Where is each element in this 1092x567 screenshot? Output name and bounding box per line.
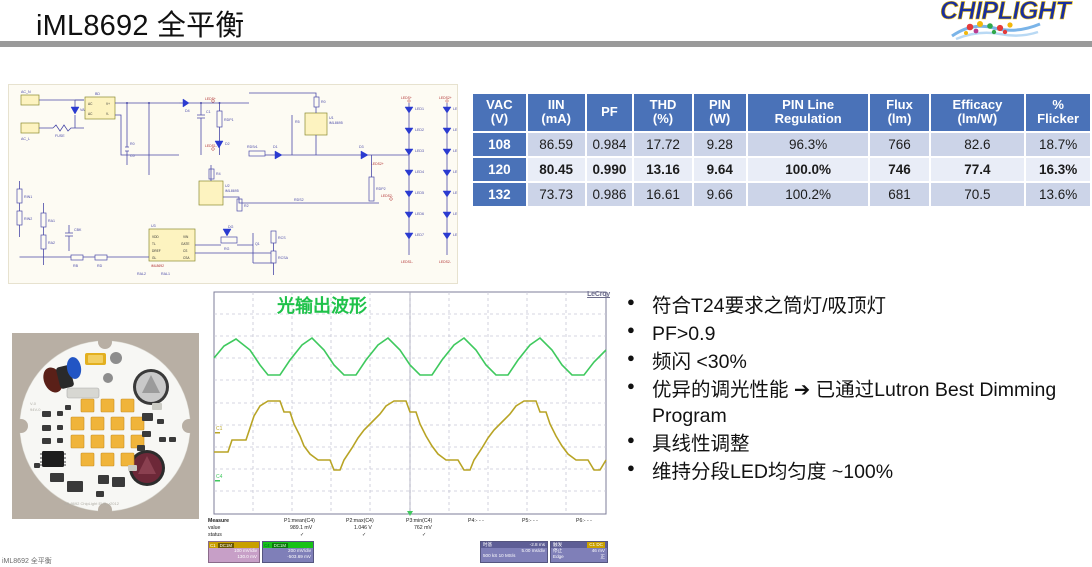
performance-table: VAC (V) IIN (mA) PF THD (%) PIN (W) PIN … — [471, 92, 1092, 208]
svg-text:iML8695: iML8695 — [225, 189, 239, 193]
pcb-photo: V-0 94V-0 iML8692 ChipLight EVB_r2012 — [12, 333, 199, 519]
svg-text:C0: C0 — [130, 154, 135, 158]
slide-root: iML8692 全平衡 CHIPLIGHT .w { stroke:#4a4aa… — [0, 0, 1092, 567]
cell-efficacy: 70.5 — [931, 183, 1025, 206]
svg-text:VDD: VDD — [152, 235, 159, 239]
light-output-waveform-label: 光输出波形 — [277, 292, 367, 318]
svg-text:RIN2: RIN2 — [24, 217, 32, 221]
svg-text:C1: C1 — [216, 426, 223, 432]
cell-pin: 9.66 — [694, 183, 746, 206]
cell-pin-line-regulation: 96.3% — [748, 133, 869, 156]
svg-text:U1: U1 — [329, 116, 334, 120]
svg-text:RD: RD — [97, 264, 103, 268]
cell-iin: 86.59 — [528, 133, 585, 156]
svg-text:CSA: CSA — [183, 256, 190, 260]
svg-text:U3: U3 — [151, 224, 156, 228]
col-pin-line-regulation: PIN Line Regulation — [748, 94, 869, 131]
svg-text:D3: D3 — [359, 145, 364, 149]
schematic-drawing: .w { stroke:#4a4aa8; stroke-width:0.8; f… — [9, 85, 458, 284]
trigger-source: 正 — [600, 554, 605, 560]
svg-text:VIN: VIN — [183, 235, 189, 239]
col-flux: Flux (lm) — [870, 94, 928, 131]
feature-bullet-list: 符合T24要求之筒灯/吸顶灯 PF>0.9 频闪 <30% 优异的调光性能 ➔ … — [622, 294, 1088, 487]
cell-pin-line-regulation: 100.2% — [748, 183, 869, 206]
svg-text:LEDS2-: LEDS2- — [381, 194, 393, 198]
pcb-illustration: V-0 94V-0 iML8692 ChipLight EVB_r2012 — [12, 333, 199, 519]
svg-text:Q1: Q1 — [255, 242, 260, 246]
svg-text:LEDS2-: LEDS2- — [439, 260, 451, 264]
svg-text:RCSA: RCSA — [278, 256, 289, 260]
svg-text:LED5: LED5 — [415, 191, 424, 195]
channel-c4-offset: -503.69 mV — [263, 554, 311, 560]
scope-measurement-panel: Measure value status P1:mean(C4) 989.1 m… — [206, 516, 615, 567]
cell-efficacy: 82.6 — [931, 133, 1025, 156]
cell-pin: 9.64 — [694, 158, 746, 181]
chiplight-logo: CHIPLIGHT — [934, 0, 1092, 43]
svg-text:LED10: LED10 — [453, 149, 458, 153]
svg-text:LED9: LED9 — [453, 128, 458, 132]
svg-text:V-: V- — [106, 112, 109, 116]
svg-text:CS: CS — [183, 249, 187, 253]
table-row: 108 86.59 0.984 17.72 9.28 96.3% 766 82.… — [473, 133, 1090, 156]
list-item: 具线性调整 — [622, 432, 1088, 458]
svg-text:LED1: LED1 — [415, 107, 424, 111]
list-item: 符合T24要求之筒灯/吸顶灯 — [622, 294, 1088, 320]
svg-text:C4: C4 — [216, 474, 223, 480]
list-item: PF>0.9 — [622, 322, 1088, 348]
status-label: status — [208, 532, 222, 538]
col-pin: PIN (W) — [694, 94, 746, 131]
svg-text:RA1: RA1 — [48, 219, 55, 223]
cell-iin: 80.45 — [528, 158, 585, 181]
svg-text:RB: RB — [73, 264, 79, 268]
p1-status-check: ✓ — [300, 532, 304, 538]
cell-pf: 0.984 — [587, 133, 633, 156]
svg-text:RDS2: RDS2 — [294, 198, 304, 202]
p2-status-check: ✓ — [362, 532, 366, 538]
p2-value: 1.046 V — [354, 525, 372, 531]
p5-name: P5:- - - — [522, 518, 538, 524]
svg-text:94V-0: 94V-0 — [30, 407, 41, 412]
cell-vac: 108 — [473, 133, 526, 156]
logo-swoosh-icon — [950, 18, 1042, 42]
cell-pin-line-regulation: 100.0% — [748, 158, 869, 181]
table-row: 132 73.73 0.986 16.61 9.66 100.2% 681 70… — [473, 183, 1090, 206]
channel-c4-id: C4 — [264, 543, 270, 548]
svg-text:U2: U2 — [225, 184, 230, 188]
svg-text:R4: R4 — [216, 172, 221, 176]
svg-text:AC_N: AC_N — [21, 90, 31, 94]
svg-text:LED2: LED2 — [415, 128, 424, 132]
list-item: 优异的调光性能 ➔ 已通过Lutron Best Dimming Program — [622, 378, 1088, 430]
svg-text:BD: BD — [95, 92, 100, 96]
cell-flicker: 13.6% — [1026, 183, 1090, 206]
p1-name: P1:mean(C4) — [284, 518, 315, 524]
value-label: value — [208, 525, 220, 531]
svg-text:AC: AC — [88, 102, 93, 106]
svg-text:RCS: RCS — [278, 236, 286, 240]
cell-flux: 766 — [870, 133, 928, 156]
svg-text:V-0: V-0 — [30, 401, 37, 406]
cell-pin: 9.28 — [694, 133, 746, 156]
svg-text:LED7: LED7 — [415, 233, 424, 237]
svg-text:RDP1: RDP1 — [224, 118, 234, 122]
cell-flux: 681 — [870, 183, 928, 206]
p2-name: P2:max(C4) — [346, 518, 374, 524]
list-item: 频闪 <30% — [622, 350, 1088, 376]
cell-thd: 16.61 — [634, 183, 691, 206]
svg-text:LEDS+: LEDS+ — [401, 96, 412, 100]
cell-vac: 132 — [473, 183, 526, 206]
svg-text:RDSr1: RDSr1 — [247, 145, 258, 149]
col-iin: IIN (mA) — [528, 94, 585, 131]
cell-vac: 120 — [473, 158, 526, 181]
svg-text:RIN1: RIN1 — [24, 195, 32, 199]
svg-text:C1: C1 — [206, 110, 211, 114]
svg-text:R0: R0 — [321, 100, 326, 104]
svg-text:DREF: DREF — [152, 249, 161, 253]
svg-text:RAL1: RAL1 — [161, 272, 170, 276]
p3-status-check: ✓ — [422, 532, 426, 538]
cell-pf: 0.986 — [587, 183, 633, 206]
svg-text:RAL2: RAL2 — [137, 272, 146, 276]
svg-text:AC_L: AC_L — [21, 137, 30, 141]
svg-text:FUSE: FUSE — [55, 134, 65, 138]
p3-value: 762 mV — [414, 525, 432, 531]
lecroy-brand: LeCroy — [587, 291, 610, 298]
cell-flicker: 18.7% — [1026, 133, 1090, 156]
svg-text:CBK: CBK — [74, 228, 82, 232]
svg-text:V+: V+ — [106, 102, 110, 106]
circuit-schematic: .w { stroke:#4a4aa8; stroke-width:0.8; f… — [8, 84, 458, 284]
svg-text:iML8692 ChipLight EVB_r2012: iML8692 ChipLight EVB_r2012 — [64, 501, 120, 506]
timebase-sample: 500 kS 10 MS/s — [481, 553, 547, 558]
cell-thd: 13.16 — [634, 158, 691, 181]
svg-text:R2: R2 — [244, 204, 249, 208]
p1-value: 989.1 mV — [290, 525, 312, 531]
svg-text:D1: D1 — [273, 145, 278, 149]
svg-text:LEDS1-: LEDS1- — [205, 144, 217, 148]
svg-text:D2: D2 — [225, 142, 230, 146]
svg-text:RG: RG — [224, 247, 230, 251]
svg-text:LED4: LED4 — [415, 170, 424, 174]
oscilloscope-capture: C1 C4 LeCroy 光输出波形 AC 电流波形 Measure value… — [206, 288, 615, 567]
channel-c4-box[interactable]: C4 DC1M 200 mV/div -503.69 mV — [262, 541, 314, 563]
cell-thd: 17.72 — [634, 133, 691, 156]
col-thd: THD (%) — [634, 94, 691, 131]
col-flicker: % Flicker — [1026, 94, 1090, 131]
col-efficacy: Efficacy (lm/W) — [931, 94, 1025, 131]
svg-text:AC: AC — [88, 112, 93, 116]
p3-name: P3:min(C4) — [406, 518, 432, 524]
svg-text:DG: DG — [228, 225, 234, 229]
trigger-edge: Edge — [553, 554, 564, 560]
list-item: 维持分段LED均匀度 ~100% — [622, 460, 1088, 486]
svg-text:GL: GL — [152, 256, 156, 260]
cell-pf: 0.990 — [587, 158, 633, 181]
svg-text:LED11: LED11 — [453, 170, 458, 174]
svg-text:LEDS2+: LEDS2+ — [371, 162, 384, 166]
cell-flux: 746 — [870, 158, 928, 181]
measure-label: Measure — [208, 518, 229, 524]
cell-iin: 73.73 — [528, 183, 585, 206]
timebase-label: 时基 — [483, 542, 492, 548]
table-row: 120 80.45 0.990 13.16 9.64 100.0% 746 77… — [473, 158, 1090, 181]
svg-text:iML8695: iML8695 — [329, 121, 343, 125]
page-title: iML8692 全平衡 — [36, 2, 245, 44]
svg-text:LED14: LED14 — [453, 233, 458, 237]
svg-text:TL: TL — [152, 242, 156, 246]
svg-text:LEDS2+: LEDS2+ — [439, 96, 452, 100]
p6-name: P6:- - - — [576, 518, 592, 524]
svg-text:RA2: RA2 — [48, 241, 55, 245]
table-header-row: VAC (V) IIN (mA) PF THD (%) PIN (W) PIN … — [473, 94, 1090, 131]
channel-c1-box[interactable]: C1 DC1M 100 mV/div 130.0 mV — [208, 541, 260, 563]
trigger-box[interactable]: 触发 C1 DC 停止 46 mV Edge 正 — [550, 541, 608, 563]
svg-text:LED6: LED6 — [415, 212, 424, 216]
svg-text:R5: R5 — [295, 120, 300, 124]
svg-text:RDP2: RDP2 — [376, 187, 386, 191]
footer-note: iML8692 全平衡 — [2, 556, 52, 566]
svg-text:D4: D4 — [185, 109, 190, 113]
svg-text:iML8692: iML8692 — [151, 264, 164, 268]
svg-text:R0: R0 — [130, 142, 135, 146]
timebase-box[interactable]: 时基 -2.8 ms 5.00 ms/div 500 kS 10 MS/s — [480, 541, 548, 563]
svg-text:GATE: GATE — [181, 242, 189, 246]
svg-text:LED13: LED13 — [453, 212, 458, 216]
cell-efficacy: 77.4 — [931, 158, 1025, 181]
col-pf: PF — [587, 94, 633, 131]
channel-c1-id: C1 — [210, 543, 216, 548]
svg-text:LEDS1-: LEDS1- — [401, 260, 413, 264]
svg-text:LED12: LED12 — [453, 191, 458, 195]
cell-flicker: 16.3% — [1026, 158, 1090, 181]
svg-text:LED8: LED8 — [453, 107, 458, 111]
p4-name: P4:- - - — [468, 518, 484, 524]
channel-c1-offset: 130.0 mV — [209, 554, 257, 560]
col-vac: VAC (V) — [473, 94, 526, 131]
title-divider — [0, 41, 1092, 47]
svg-text:LED3: LED3 — [415, 149, 424, 153]
